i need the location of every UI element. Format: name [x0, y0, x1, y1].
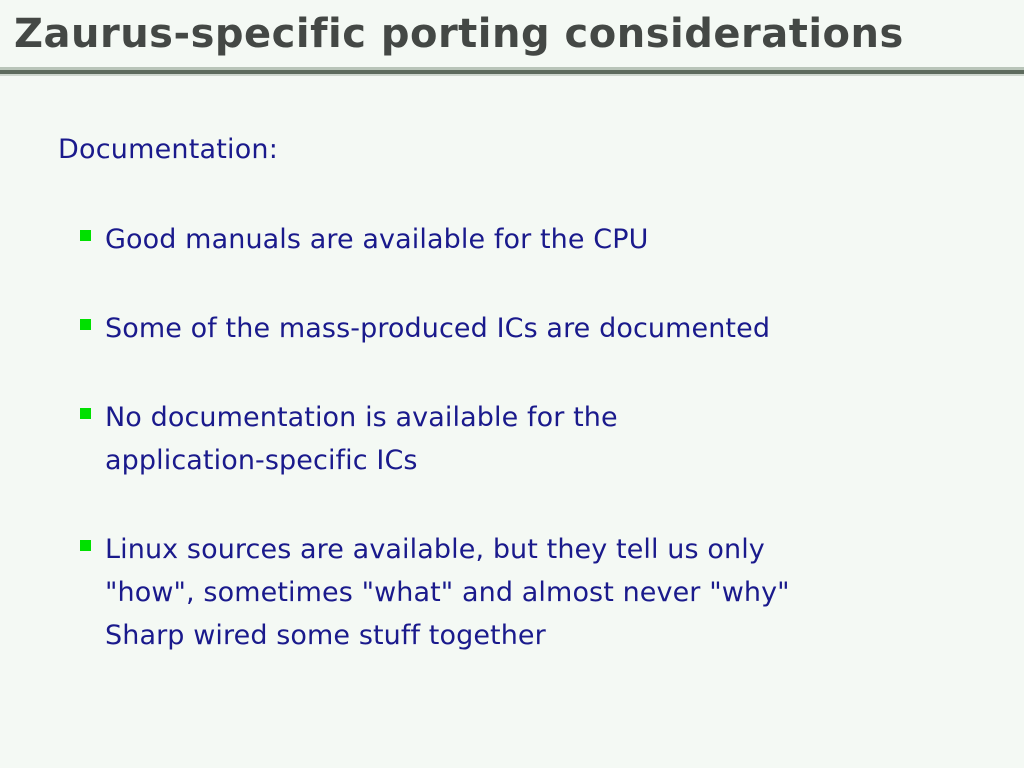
square-bullet-icon	[80, 540, 91, 551]
list-item-label: Good manuals are available for the CPU	[105, 218, 945, 261]
square-bullet-icon	[80, 319, 91, 330]
slide-title-block: Zaurus-specific porting considerations	[0, 0, 1024, 78]
list-item: Good manuals are available for the CPU	[0, 218, 1024, 261]
list-item: No documentation is available for the ap…	[0, 396, 1024, 482]
square-bullet-icon	[80, 408, 91, 419]
list-item-label: No documentation is available for the ap…	[105, 396, 945, 482]
square-bullet-icon	[80, 230, 91, 241]
bullet-list: Good manuals are available for the CPU S…	[0, 218, 1024, 657]
list-item: Some of the mass-produced ICs are docume…	[0, 307, 1024, 350]
page-title: Zaurus-specific porting considerations	[14, 8, 904, 60]
rule-fade-band	[0, 74, 1024, 76]
list-item: Linux sources are available, but they te…	[0, 528, 1024, 657]
title-divider-rule	[0, 67, 1024, 76]
slide-body: Documentation: Good manuals are availabl…	[0, 78, 1024, 768]
list-item-label: Some of the mass-produced ICs are docume…	[105, 307, 945, 350]
list-item-label: Linux sources are available, but they te…	[105, 528, 945, 657]
presentation-slide: Zaurus-specific porting considerations D…	[0, 0, 1024, 768]
section-heading-documentation: Documentation:	[58, 134, 278, 165]
